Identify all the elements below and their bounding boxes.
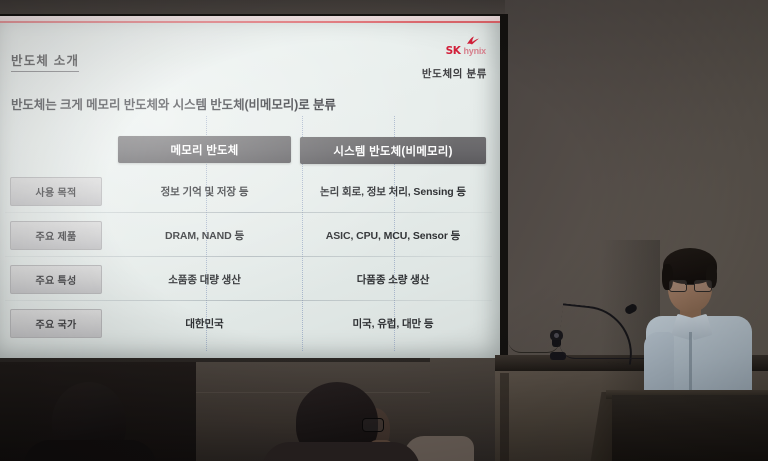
audience-member-2-shoulders xyxy=(262,442,420,461)
table-row-label-1: 주요 제품 xyxy=(10,221,102,250)
slide-top-accent-rule xyxy=(0,21,500,23)
table-cell-2-system: 다품종 소량 생산 xyxy=(300,272,486,287)
table-row-separator-1 xyxy=(5,256,492,257)
table-row-label-3: 주요 국가 xyxy=(10,309,102,338)
table-cell-0-system: 논리 회로, 정보 처리, Sensing 등 xyxy=(300,184,486,199)
table-row-label-2: 주요 특성 xyxy=(10,265,102,294)
table-cell-3-memory: 대한민국 xyxy=(118,316,291,331)
sk-hynix-logo: SK hynix xyxy=(446,43,486,58)
slide-section-kicker: 반도체의 분류 xyxy=(422,66,487,81)
webcam-lens xyxy=(554,333,559,338)
cable-left xyxy=(508,340,560,353)
glasses-lens-left xyxy=(669,280,687,292)
slide-subtitle: 반도체는 크게 메모리 반도체와 시스템 반도체(비메모리)로 분류 xyxy=(11,94,336,113)
table-row-label-0: 사용 목적 xyxy=(10,177,102,206)
lectern-front xyxy=(612,395,768,461)
slide-title: 반도체 소개 xyxy=(11,50,79,72)
table-cell-0-memory: 정보 기억 및 저장 등 xyxy=(118,184,291,199)
table-cell-1-memory: DRAM, NAND 등 xyxy=(118,228,291,243)
table-cell-1-system: ASIC, CPU, MCU, Sensor 등 xyxy=(300,228,486,243)
presentation-slide: SK hynix 반도체 소개 반도체의 분류 반도체는 크게 메모리 반도체와… xyxy=(0,16,500,358)
logo-sk-text: SK xyxy=(446,45,461,57)
glasses-bridge xyxy=(685,284,694,285)
table-column-header-system: 시스템 반도체(비메모리) xyxy=(300,137,486,164)
screenshot-root: SK hynix 반도체 소개 반도체의 분류 반도체는 크게 메모리 반도체와… xyxy=(0,0,768,461)
table-column-header-memory: 메모리 반도체 xyxy=(118,136,291,163)
presenter-glasses-icon xyxy=(669,280,711,290)
table-cell-3-system: 미국, 유럽, 대만 등 xyxy=(300,316,486,331)
audience-member-2-glasses-icon xyxy=(362,418,384,432)
projection-screen: SK hynix 반도체 소개 반도체의 분류 반도체는 크게 메모리 반도체와… xyxy=(0,16,500,358)
table-row-separator-2 xyxy=(5,300,492,301)
logo-hynix-text: hynix xyxy=(463,46,486,56)
audience-member-1-shoulders xyxy=(24,440,156,461)
table-row-separator-0 xyxy=(5,212,492,213)
table-cell-2-memory: 소품종 대량 생산 xyxy=(118,272,291,287)
glasses-lens-right xyxy=(694,280,712,292)
podium-desk-leg xyxy=(500,373,509,461)
